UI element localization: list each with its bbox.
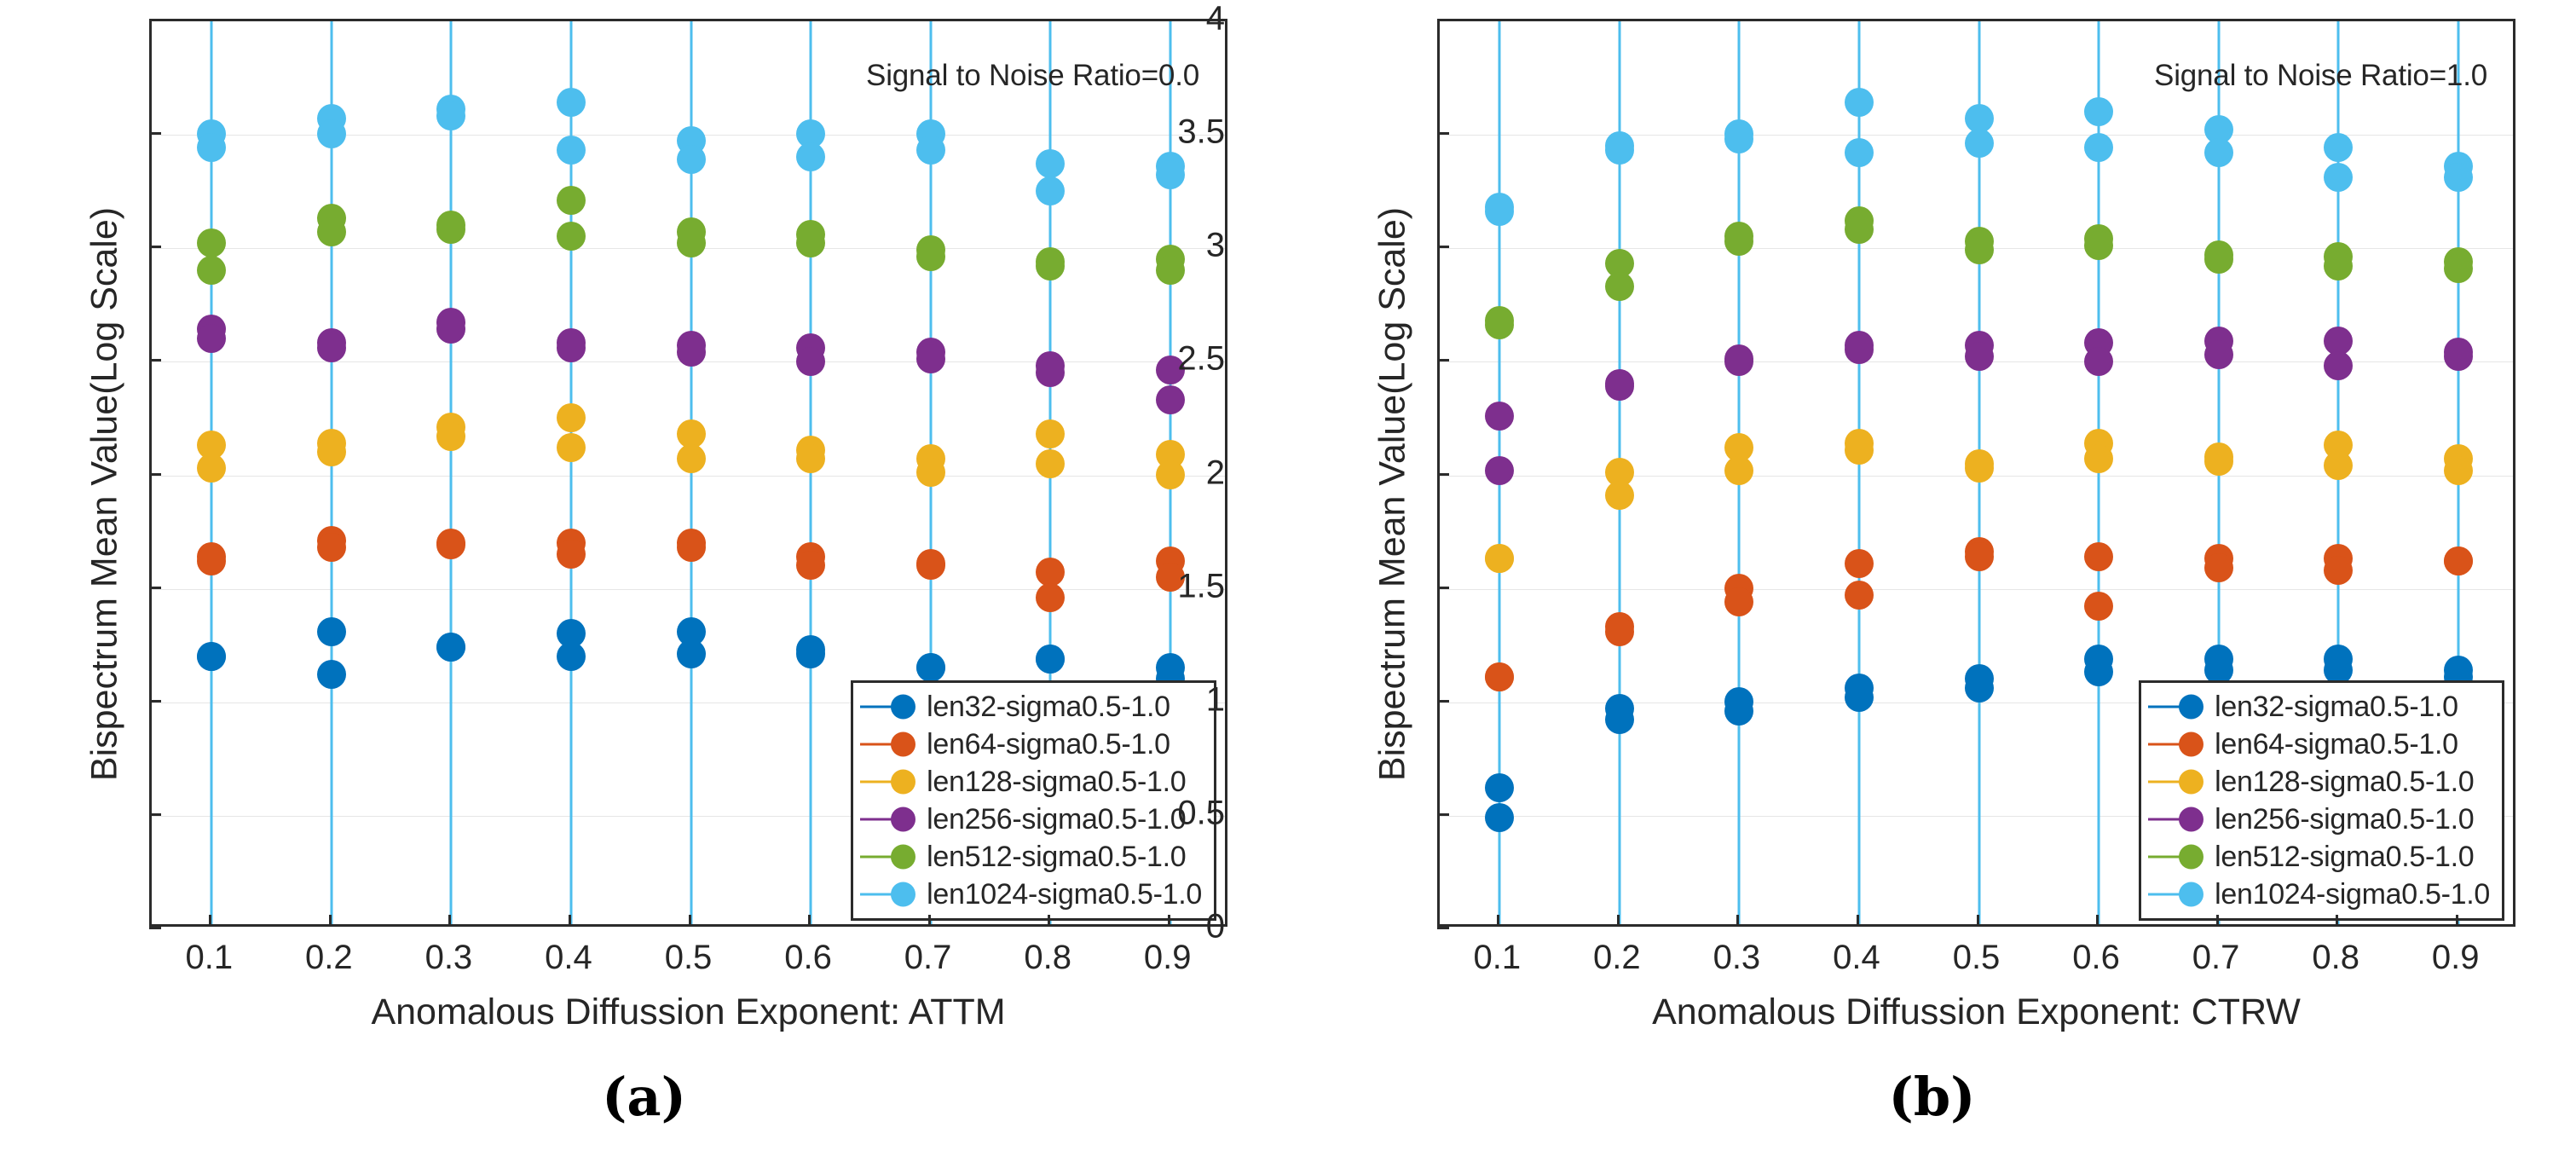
- data-point: [677, 639, 706, 668]
- data-point: [1845, 549, 1874, 578]
- data-point: [436, 101, 465, 130]
- legend-marker-icon: [860, 838, 927, 876]
- data-point: [1156, 256, 1185, 285]
- data-point: [1036, 149, 1065, 178]
- x-axis-tick-label: 0.8: [1024, 939, 1071, 977]
- data-point: [317, 533, 346, 562]
- x-axis-title: Anomalous Diffussion Exponent: ATTM: [149, 992, 1227, 1033]
- y-axis-tick-mark: [149, 813, 161, 816]
- legend-marker-icon: [860, 763, 927, 801]
- x-axis-tick-mark: [2096, 915, 2099, 927]
- x-axis-tick-label: 0.5: [665, 939, 713, 977]
- data-point: [2444, 342, 2473, 371]
- data-point: [2084, 657, 2113, 686]
- data-point: [2084, 133, 2113, 162]
- legend-dot-icon: [2179, 695, 2203, 720]
- y-axis-tick-mark: [1437, 359, 1449, 361]
- data-point: [1485, 402, 1514, 431]
- gridline-horizontal: [152, 589, 1225, 590]
- x-axis-tick-label: 0.6: [2072, 939, 2120, 977]
- x-axis-tick-mark: [329, 915, 332, 927]
- data-point: [1036, 449, 1065, 478]
- data-point: [1036, 358, 1065, 387]
- data-point: [796, 228, 825, 257]
- data-point: [317, 217, 346, 246]
- x-axis-tick-label: 0.1: [185, 939, 233, 977]
- x-axis-tick-label: 0.9: [2432, 939, 2480, 977]
- data-point: [557, 333, 586, 362]
- data-point: [557, 433, 586, 462]
- x-axis-tick-label: 0.5: [1953, 939, 2001, 977]
- y-axis-tick-mark: [1437, 19, 1449, 21]
- x-axis-tick-label: 0.4: [1833, 939, 1880, 977]
- y-axis-tick-mark: [1437, 473, 1449, 476]
- x-axis-tick-label: 0.4: [545, 939, 592, 977]
- x-axis-tick-label: 0.2: [305, 939, 353, 977]
- figure-container: Signal to Noise Ratio=0.0len32-sigma0.5-…: [0, 0, 2576, 1168]
- data-point: [2084, 97, 2113, 126]
- y-axis-tick-mark: [1437, 587, 1449, 589]
- y-axis-tick-mark: [149, 359, 161, 361]
- data-point: [317, 437, 346, 466]
- data-point: [1036, 645, 1065, 674]
- data-point: [1724, 456, 1753, 485]
- data-point: [796, 444, 825, 473]
- data-point: [1965, 454, 1994, 483]
- x-axis-tick-mark: [689, 915, 691, 927]
- legend-item-len64-sigma0.5-1.0[interactable]: len64-sigma0.5-1.0: [860, 726, 1202, 763]
- y-axis-tick-label: 0: [1206, 908, 1225, 946]
- data-point: [1845, 581, 1874, 610]
- data-point: [916, 136, 945, 165]
- data-point: [1965, 674, 1994, 703]
- data-point: [197, 324, 226, 353]
- data-point: [796, 347, 825, 376]
- data-point: [1724, 697, 1753, 726]
- y-axis-tick-label: 3.5: [1177, 113, 1225, 152]
- data-point: [1485, 662, 1514, 691]
- legend-marker-icon: [860, 876, 927, 913]
- y-axis-tick-mark: [149, 132, 161, 135]
- data-point: [1485, 197, 1514, 226]
- x-axis-tick-mark: [448, 915, 451, 927]
- data-point: [2324, 556, 2353, 585]
- y-axis-tick-mark: [1437, 813, 1449, 816]
- y-axis-tick-label: 2: [1206, 454, 1225, 492]
- data-point: [2084, 542, 2113, 571]
- legend-item-len512-sigma0.5-1.0[interactable]: len512-sigma0.5-1.0: [860, 838, 1202, 876]
- data-point: [1605, 617, 1634, 646]
- data-point: [1485, 544, 1514, 573]
- legend-label: len128-sigma0.5-1.0: [927, 766, 1186, 799]
- y-axis-tick-mark: [1437, 246, 1449, 248]
- legend-label: len256-sigma0.5-1.0: [927, 803, 1186, 836]
- data-point: [1156, 460, 1185, 489]
- y-axis-title: Bispectrum Mean Value(Log Scale): [1372, 68, 1414, 921]
- y-axis-tick-mark: [149, 473, 161, 476]
- legend-item-len1024-sigma0.5-1.0[interactable]: len1024-sigma0.5-1.0: [2148, 876, 2490, 913]
- x-axis-tick-mark: [2216, 915, 2219, 927]
- chart-legend[interactable]: len32-sigma0.5-1.0len64-sigma0.5-1.0len1…: [2139, 680, 2504, 921]
- x-axis-tick-mark: [2336, 915, 2338, 927]
- data-point: [677, 145, 706, 174]
- data-point: [1965, 129, 1994, 158]
- data-point: [1845, 436, 1874, 465]
- data-point: [1605, 372, 1634, 401]
- x-axis-tick-label: 0.1: [1473, 939, 1521, 977]
- data-point: [2324, 133, 2353, 162]
- data-point: [677, 533, 706, 562]
- x-axis-tick-mark: [1977, 915, 1979, 927]
- data-point: [197, 256, 226, 285]
- data-point: [677, 228, 706, 257]
- data-point: [197, 546, 226, 575]
- data-point: [436, 215, 465, 244]
- data-point: [436, 422, 465, 451]
- legend-label: len256-sigma0.5-1.0: [2215, 803, 2474, 836]
- legend-item-len64-sigma0.5-1.0[interactable]: len64-sigma0.5-1.0: [2148, 726, 2490, 763]
- y-axis-tick-mark: [149, 246, 161, 248]
- chart-panel-a: Signal to Noise Ratio=0.0len32-sigma0.5-…: [0, 0, 1288, 1168]
- legend-dot-icon: [891, 732, 915, 757]
- data-point: [1156, 160, 1185, 189]
- data-point: [2084, 347, 2113, 376]
- data-point: [436, 315, 465, 344]
- data-point: [1965, 235, 1994, 264]
- legend-dot-icon: [2179, 732, 2203, 757]
- data-point: [1605, 481, 1634, 510]
- legend-label: len32-sigma0.5-1.0: [927, 691, 1170, 724]
- legend-label: len1024-sigma0.5-1.0: [2215, 878, 2490, 911]
- data-point: [2444, 456, 2473, 485]
- y-axis-tick-label: 4: [1206, 0, 1225, 38]
- legend-dot-icon: [2179, 882, 2203, 907]
- data-point: [1485, 310, 1514, 339]
- data-point: [557, 642, 586, 671]
- data-point: [1156, 385, 1185, 414]
- y-axis-title: Bispectrum Mean Value(Log Scale): [84, 68, 126, 921]
- data-point: [1724, 587, 1753, 616]
- data-point: [2444, 546, 2473, 575]
- data-point: [916, 653, 945, 682]
- data-point: [1965, 542, 1994, 571]
- legend-item-len512-sigma0.5-1.0[interactable]: len512-sigma0.5-1.0: [2148, 838, 2490, 876]
- legend-marker-icon: [2148, 726, 2215, 763]
- data-point: [1845, 683, 1874, 712]
- y-axis-tick-mark: [149, 587, 161, 589]
- legend-marker-icon: [2148, 838, 2215, 876]
- x-axis-tick-mark: [1497, 915, 1499, 927]
- legend-marker-icon: [2148, 763, 2215, 801]
- data-point: [197, 228, 226, 257]
- data-point: [1845, 88, 1874, 117]
- data-point: [1605, 272, 1634, 301]
- legend-label: len1024-sigma0.5-1.0: [927, 878, 1202, 911]
- legend-marker-icon: [2148, 688, 2215, 726]
- legend-label: len512-sigma0.5-1.0: [2215, 841, 2474, 874]
- x-axis-tick-label: 0.2: [1593, 939, 1641, 977]
- x-axis-tick-mark: [1048, 915, 1050, 927]
- y-axis-tick-mark: [1437, 927, 1449, 929]
- data-point: [916, 551, 945, 580]
- data-point: [796, 639, 825, 668]
- data-point: [916, 344, 945, 373]
- data-point: [2204, 340, 2233, 369]
- x-axis-tick-label: 0.3: [425, 939, 473, 977]
- legend-marker-icon: [860, 801, 927, 838]
- data-point: [677, 338, 706, 367]
- data-point: [2324, 252, 2353, 280]
- data-point: [2204, 447, 2233, 476]
- data-point: [197, 454, 226, 483]
- x-axis-tick-label: 0.7: [2192, 939, 2240, 977]
- gridline-horizontal: [152, 476, 1225, 477]
- legend-label: len128-sigma0.5-1.0: [2215, 766, 2474, 799]
- plot-area: Signal to Noise Ratio=1.0len32-sigma0.5-…: [1437, 19, 2515, 927]
- x-axis-tick-label: 0.8: [2312, 939, 2359, 977]
- y-axis-tick-label: 3: [1206, 227, 1225, 265]
- data-point: [197, 133, 226, 162]
- x-axis-tick-label: 0.3: [1713, 939, 1761, 977]
- legend-dot-icon: [891, 770, 915, 795]
- legend-label: len64-sigma0.5-1.0: [2215, 728, 2458, 761]
- subplot-label: (b): [1288, 1066, 2576, 1128]
- legend-dot-icon: [891, 845, 915, 870]
- data-point: [317, 617, 346, 646]
- y-axis-tick-label: 1: [1206, 680, 1225, 719]
- y-axis-tick-mark: [1437, 700, 1449, 703]
- legend-dot-icon: [891, 695, 915, 720]
- data-point: [2444, 163, 2473, 192]
- data-point: [197, 642, 226, 671]
- data-point: [2444, 254, 2473, 283]
- data-point: [1845, 138, 1874, 167]
- data-point: [2324, 163, 2353, 192]
- gridline-horizontal: [1440, 589, 2513, 590]
- x-axis-tick-mark: [209, 915, 211, 927]
- legend-dot-icon: [2179, 845, 2203, 870]
- data-point: [2084, 592, 2113, 621]
- y-axis-tick-mark: [149, 700, 161, 703]
- data-point: [557, 222, 586, 251]
- x-axis-tick-mark: [1617, 915, 1620, 927]
- data-point: [1605, 136, 1634, 165]
- y-axis-tick-label: 0.5: [1177, 794, 1225, 832]
- y-axis-tick-label: 1.5: [1177, 567, 1225, 605]
- data-point: [796, 551, 825, 580]
- data-point: [1965, 342, 1994, 371]
- legend-dot-icon: [2179, 807, 2203, 832]
- snr-annotation: Signal to Noise Ratio=0.0: [866, 59, 1199, 93]
- data-point: [1485, 803, 1514, 832]
- data-point: [1036, 176, 1065, 205]
- x-axis-tick-label: 0.6: [784, 939, 832, 977]
- x-axis-tick-mark: [1168, 915, 1170, 927]
- legend-item-len32-sigma0.5-1.0[interactable]: len32-sigma0.5-1.0: [860, 688, 1202, 726]
- data-point: [557, 540, 586, 569]
- data-point: [1724, 227, 1753, 256]
- y-axis-tick-label: 2.5: [1177, 340, 1225, 379]
- data-point: [1485, 456, 1514, 485]
- data-point: [2324, 451, 2353, 480]
- chart-legend[interactable]: len32-sigma0.5-1.0len64-sigma0.5-1.0len1…: [851, 680, 1216, 921]
- data-point: [1605, 705, 1634, 734]
- plot-area: Signal to Noise Ratio=0.0len32-sigma0.5-…: [149, 19, 1227, 927]
- data-point: [317, 333, 346, 362]
- x-axis-tick-mark: [2456, 915, 2458, 927]
- data-point: [2204, 553, 2233, 582]
- data-point: [2084, 231, 2113, 260]
- data-point: [2324, 351, 2353, 380]
- data-point: [1724, 347, 1753, 376]
- legend-item-len1024-sigma0.5-1.0[interactable]: len1024-sigma0.5-1.0: [860, 876, 1202, 913]
- data-point: [557, 88, 586, 117]
- data-point: [677, 444, 706, 473]
- x-axis-tick-label: 0.7: [904, 939, 952, 977]
- data-point: [557, 136, 586, 165]
- data-point: [1036, 252, 1065, 280]
- x-axis-tick-mark: [1736, 915, 1739, 927]
- y-axis-tick-mark: [149, 19, 161, 21]
- data-point: [317, 119, 346, 148]
- data-point: [557, 403, 586, 432]
- data-point: [1845, 335, 1874, 364]
- x-axis-tick-mark: [928, 915, 931, 927]
- data-point: [2204, 138, 2233, 167]
- legend-label: len512-sigma0.5-1.0: [927, 841, 1186, 874]
- subplot-label: (a): [0, 1066, 1288, 1128]
- stem-line: [330, 21, 332, 924]
- legend-dot-icon: [891, 882, 915, 907]
- stem-line: [450, 21, 453, 924]
- chart-panel-b: Signal to Noise Ratio=1.0len32-sigma0.5-…: [1288, 0, 2576, 1168]
- snr-annotation: Signal to Noise Ratio=1.0: [2154, 59, 2487, 93]
- legend-marker-icon: [860, 688, 927, 726]
- x-axis-tick-mark: [1857, 915, 1859, 927]
- legend-dot-icon: [2179, 770, 2203, 795]
- legend-item-len256-sigma0.5-1.0[interactable]: len256-sigma0.5-1.0: [860, 801, 1202, 838]
- legend-item-len32-sigma0.5-1.0[interactable]: len32-sigma0.5-1.0: [2148, 688, 2490, 726]
- legend-item-len128-sigma0.5-1.0[interactable]: len128-sigma0.5-1.0: [860, 763, 1202, 801]
- data-point: [1724, 124, 1753, 153]
- legend-item-len128-sigma0.5-1.0[interactable]: len128-sigma0.5-1.0: [2148, 763, 2490, 801]
- x-axis-title: Anomalous Diffussion Exponent: CTRW: [1437, 992, 2515, 1033]
- legend-label: len32-sigma0.5-1.0: [2215, 691, 2458, 724]
- x-axis-tick-label: 0.9: [1144, 939, 1192, 977]
- data-point: [916, 458, 945, 487]
- data-point: [1036, 583, 1065, 612]
- legend-marker-icon: [2148, 801, 2215, 838]
- y-axis-tick-mark: [1437, 132, 1449, 135]
- data-point: [2084, 444, 2113, 473]
- data-point: [796, 142, 825, 171]
- data-point: [436, 633, 465, 662]
- x-axis-tick-mark: [569, 915, 571, 927]
- data-point: [1036, 419, 1065, 448]
- legend-marker-icon: [860, 726, 927, 763]
- legend-marker-icon: [2148, 876, 2215, 913]
- legend-label: len64-sigma0.5-1.0: [927, 728, 1170, 761]
- legend-item-len256-sigma0.5-1.0[interactable]: len256-sigma0.5-1.0: [2148, 801, 2490, 838]
- x-axis-tick-mark: [808, 915, 811, 927]
- data-point: [2204, 245, 2233, 274]
- data-point: [1845, 215, 1874, 244]
- data-point: [1485, 773, 1514, 802]
- data-point: [436, 530, 465, 559]
- y-axis-tick-mark: [149, 927, 161, 929]
- data-point: [317, 660, 346, 689]
- legend-dot-icon: [891, 807, 915, 832]
- data-point: [557, 186, 586, 215]
- data-point: [916, 242, 945, 271]
